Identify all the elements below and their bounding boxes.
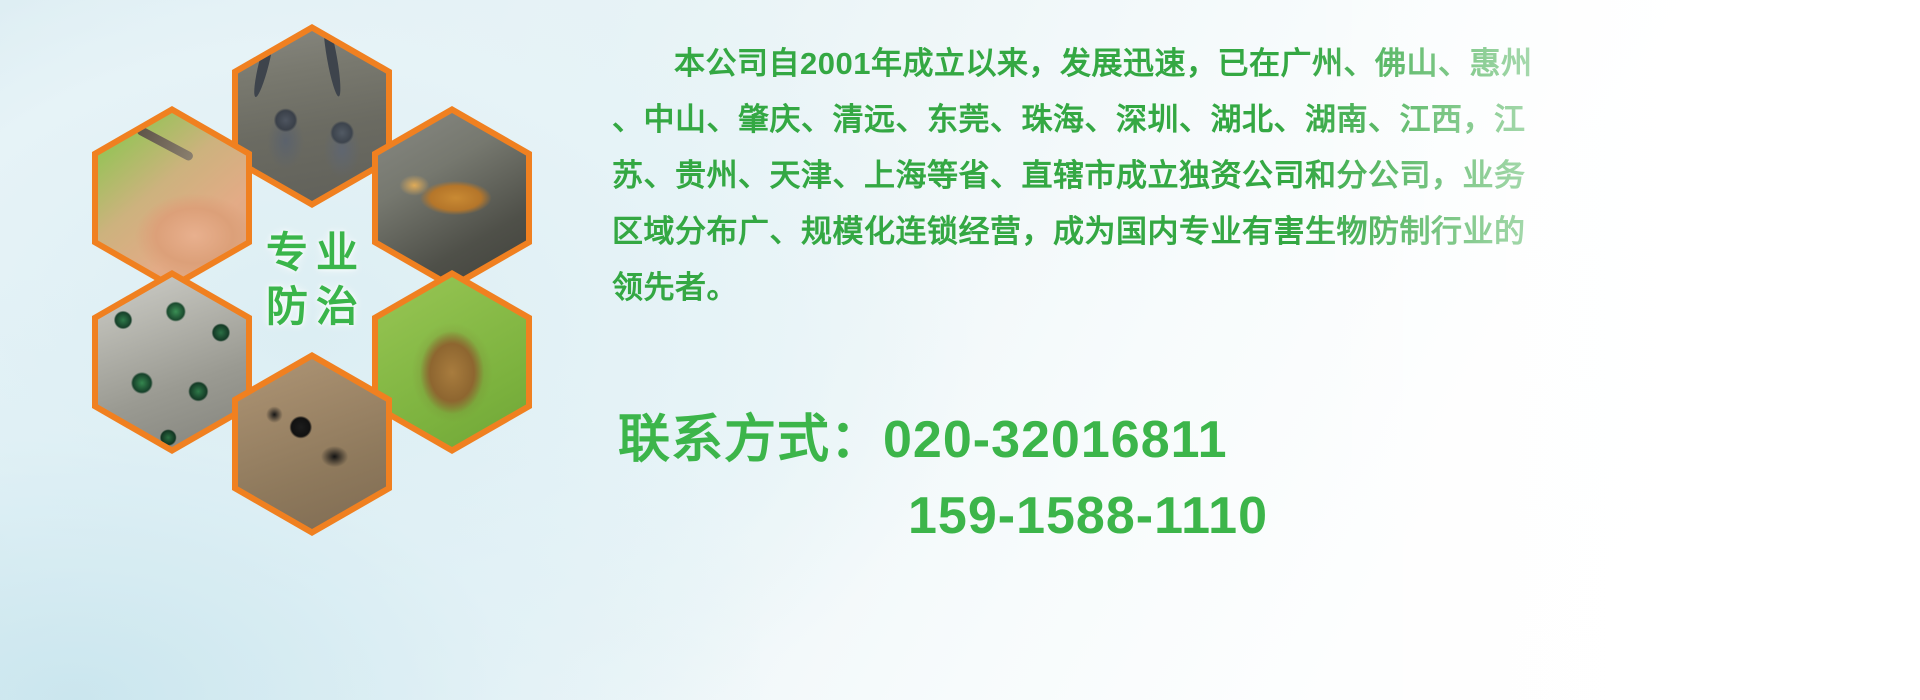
description-line-2: 、中山、肇庆、清远、东莞、珠海、深圳、湖北、湖南、江西，江 [612,92,1542,148]
rat-tail-icon [251,31,278,98]
ant-photo [238,359,386,529]
description-line-5: 领先者。 [612,260,1542,316]
rat-tail-icon [320,31,343,98]
hex-cell-flies[interactable] [92,270,252,454]
hex-inner-mosquito [98,113,246,283]
center-label-line-1: 专业 [258,230,366,276]
honeycomb-center-label: 专业 防治 [232,188,392,372]
hex-inner-ant [238,359,386,529]
hex-cell-stinkbug[interactable] [372,270,532,454]
hex-inner-cockroach [378,113,526,283]
mosquito-photo [98,113,246,283]
flies-photo [98,277,246,447]
center-label-line-2: 防治 [258,284,366,330]
contact-primary-line: 联系方式：020-32016811 [618,402,1518,478]
hex-cell-mosquito[interactable] [92,106,252,290]
hex-inner-stinkbug [378,277,526,447]
cockroach-photo [378,113,526,283]
description-line-4: 区域分布广、规模化连锁经营，成为国内专业有害生物防制行业的 [612,204,1542,260]
hex-inner-rats [238,31,386,201]
description-line-3: 苏、贵州、天津、上海等省、直辖市成立独资公司和分公司，业务 [612,148,1542,204]
hex-cell-ant[interactable] [232,352,392,536]
contact-label: 联系方式： [618,411,883,469]
banner-canvas: 专业 防治 本公司自2001年成立以来，发展迅速，已在广州、佛山、惠州 、中山、… [0,0,1920,700]
hex-cell-cockroach[interactable] [372,106,532,290]
contact-block: 联系方式：020-32016811 159-1588-1110 [618,402,1518,554]
company-description: 本公司自2001年成立以来，发展迅速，已在广州、佛山、惠州 、中山、肇庆、清远、… [612,36,1542,316]
description-line-1: 本公司自2001年成立以来，发展迅速，已在广州、佛山、惠州 [612,36,1542,92]
hex-cell-rats[interactable] [232,24,392,208]
contact-phone-primary[interactable]: 020-32016811 [883,411,1228,469]
rats-photo [238,31,386,201]
hex-inner-flies [98,277,246,447]
mosquito-body-icon [136,125,195,162]
stinkbug-photo [378,277,526,447]
honeycomb-collage: 专业 防治 [86,14,586,574]
contact-phone-secondary[interactable]: 159-1588-1110 [618,478,1518,554]
